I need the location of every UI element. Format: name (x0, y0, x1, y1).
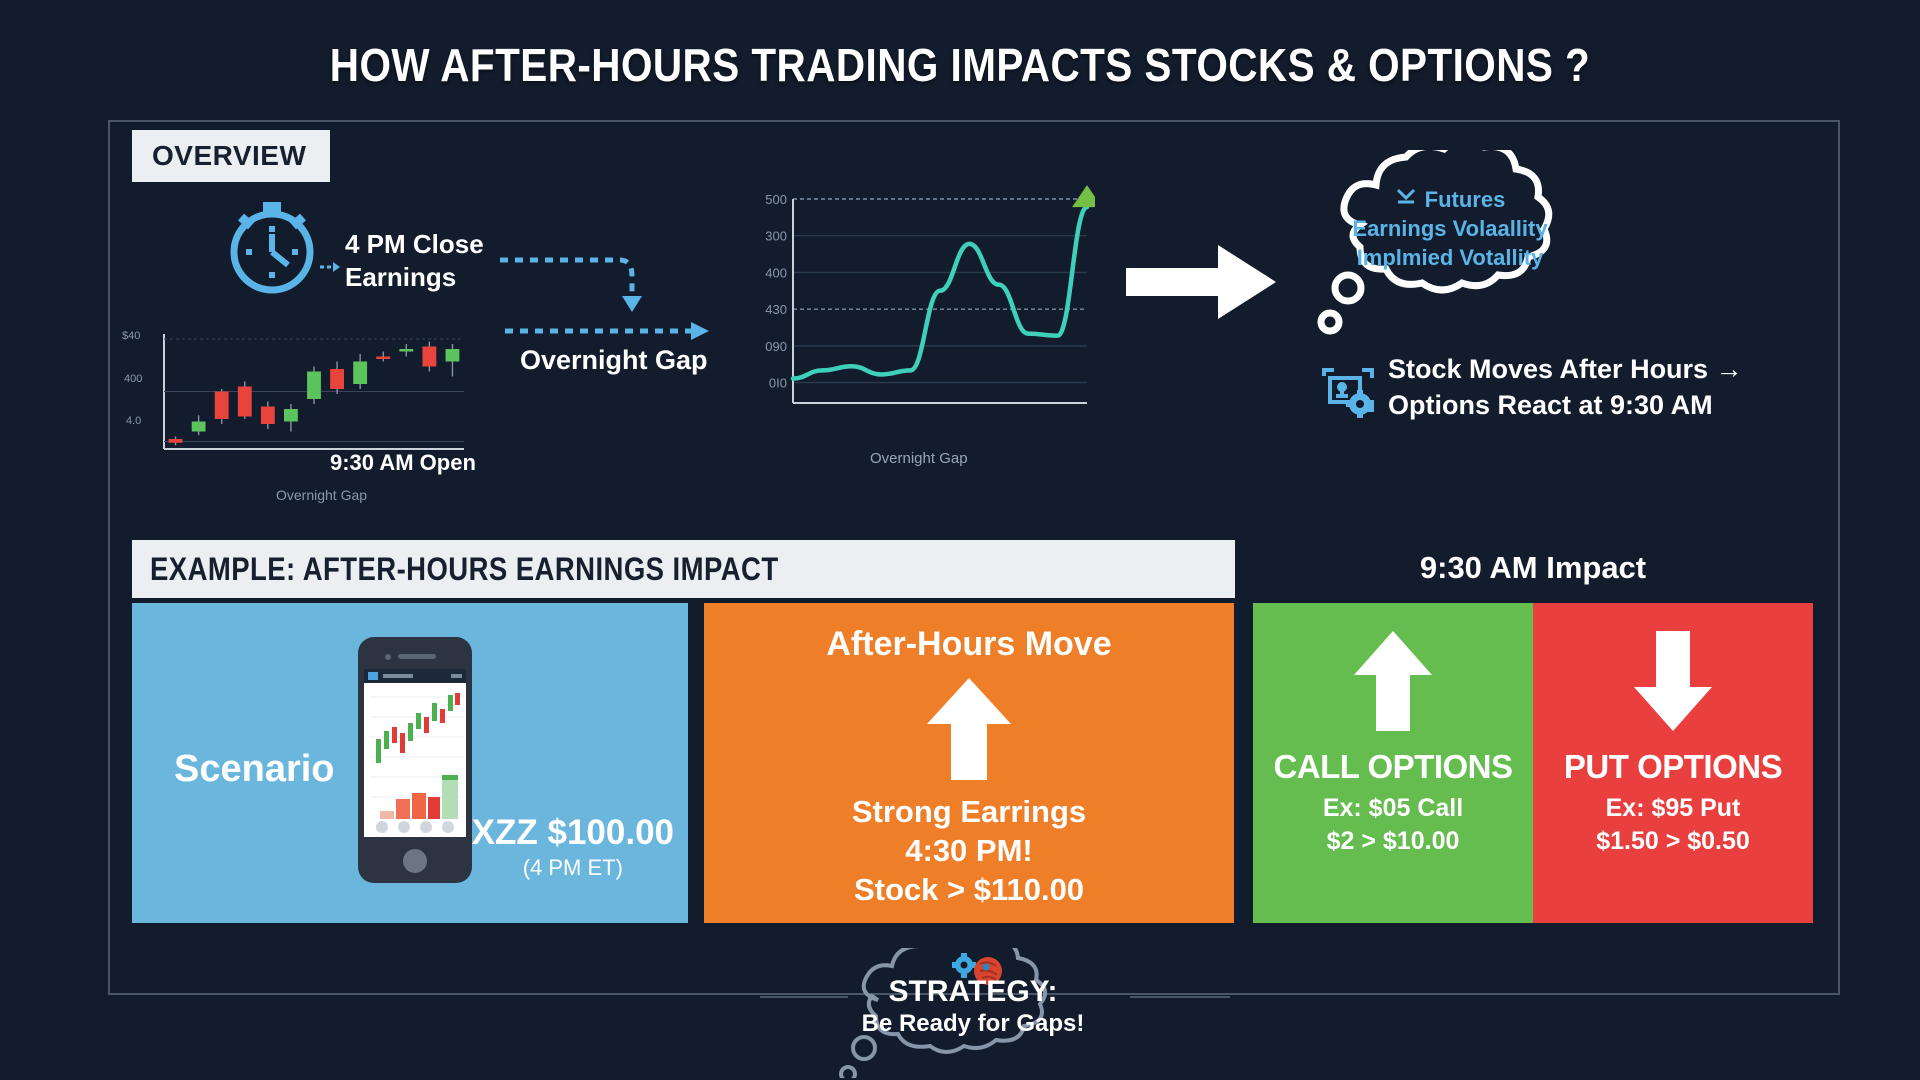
market-close-label: 4 PM Close Earnings (345, 228, 484, 293)
after-hours-details: Strong Earrings 4:30 PM! Stock > $110.00 (704, 793, 1234, 909)
candle-y-tick-2: 4.0 (126, 415, 141, 427)
scenario-price-value: XZZ $100.00 (472, 813, 674, 853)
stock-moves-text: Stock Moves After Hours → Options React … (1388, 352, 1743, 424)
svg-text:430: 430 (765, 302, 787, 317)
section-badge-example-label: EXAMPLE: AFTER-HOURS EARNINGS IMPACT (150, 551, 779, 588)
strategy-line-1: STRATEGY: (808, 975, 1138, 1010)
line-chart: 5003004004300900I0 (745, 185, 1095, 445)
chevron-down-double-icon (1395, 185, 1417, 214)
dashed-connector-icon (320, 260, 344, 274)
scenario-price-note: (4 PM ET) (472, 855, 674, 881)
candle-y-tick-0: $40 (122, 330, 140, 342)
scenario-label: Scenario (174, 748, 335, 791)
after-hours-line-3: Stock > $110.00 (704, 871, 1234, 910)
arrow-up-icon (1253, 603, 1533, 736)
strategy-text: STRATEGY: Be Ready for Gaps! (808, 975, 1138, 1037)
close-line-2: Earnings (345, 261, 484, 294)
after-hours-line-1: Strong Earrings (704, 793, 1234, 832)
candle-y-tick-1: 400 (124, 373, 142, 385)
strategy-line-2: Be Ready for Gaps! (808, 1010, 1138, 1038)
put-options-label: PUT OPTIONS (1533, 748, 1813, 786)
divider-right (1130, 996, 1230, 998)
candle-chart-caption: Overnight Gap (276, 487, 367, 503)
call-line-1: Ex: $05 Call (1253, 792, 1533, 825)
arrow-up-icon (704, 678, 1234, 785)
section-badge-example: EXAMPLE: AFTER-HOURS EARNINGS IMPACT (132, 540, 1235, 598)
overnight-gap-label: Overnight Gap (520, 345, 708, 376)
after-hours-move-panel: After-Hours Move Strong Earrings 4:30 PM… (704, 603, 1234, 923)
dashed-arrow-right-icon (505, 320, 715, 342)
smartphone-chart-icon (356, 635, 474, 885)
put-options-panel: PUT OPTIONS Ex: $95 Put $1.50 > $0.50 (1533, 603, 1813, 923)
thought-bubble-text: Futures Earnings Volaallity Implmied Vot… (1300, 185, 1600, 272)
line-chart-caption: Overnight Gap (870, 450, 968, 467)
svg-text:500: 500 (765, 192, 787, 207)
scenario-price: XZZ $100.00 (4 PM ET) (472, 813, 674, 881)
put-options-details: Ex: $95 Put $1.50 > $0.50 (1533, 792, 1813, 857)
impact-title: 9:30 AM Impact (1253, 550, 1813, 586)
bubble-line-2: Earnings Volaallity (1300, 214, 1600, 243)
bubble-line-3: Implmied Votallity (1300, 243, 1600, 272)
svg-text:400: 400 (765, 265, 787, 280)
scenario-panel: Scenario (132, 603, 688, 923)
arrow-down-icon (1533, 603, 1813, 736)
after-hours-title: After-Hours Move (704, 625, 1234, 664)
page-title: HOW AFTER-HOURS TRADING IMPACTS STOCKS &… (115, 38, 1805, 92)
market-open-label: 9:30 AM Open (330, 450, 476, 476)
svg-text:300: 300 (765, 229, 787, 244)
call-line-2: $2 > $10.00 (1253, 825, 1533, 858)
section-badge-overview: OVERVIEW (132, 130, 330, 182)
put-line-1: Ex: $95 Put (1533, 792, 1813, 825)
dashed-arrow-down-icon (500, 248, 645, 318)
close-line-1: 4 PM Close (345, 228, 484, 261)
svg-text:0I0: 0I0 (769, 376, 787, 391)
svg-text:090: 090 (765, 339, 787, 354)
call-options-panel: CALL OPTIONS Ex: $05 Call $2 > $10.00 (1253, 603, 1533, 923)
put-line-2: $1.50 > $0.50 (1533, 825, 1813, 858)
moves-line-1: Stock Moves After Hours → (1388, 352, 1743, 388)
call-options-details: Ex: $05 Call $2 > $10.00 (1253, 792, 1533, 857)
settings-gear-icon (1320, 366, 1376, 420)
after-hours-line-2: 4:30 PM! (704, 832, 1234, 871)
candlestick-chart (150, 330, 470, 455)
stopwatch-icon (213, 186, 331, 298)
bubble-line-1: Futures (1425, 185, 1506, 214)
section-badge-overview-label: OVERVIEW (152, 140, 306, 172)
arrow-right-icon (1126, 243, 1276, 321)
call-options-label: CALL OPTIONS (1253, 748, 1533, 786)
moves-line-2: Options React at 9:30 AM (1388, 388, 1743, 424)
